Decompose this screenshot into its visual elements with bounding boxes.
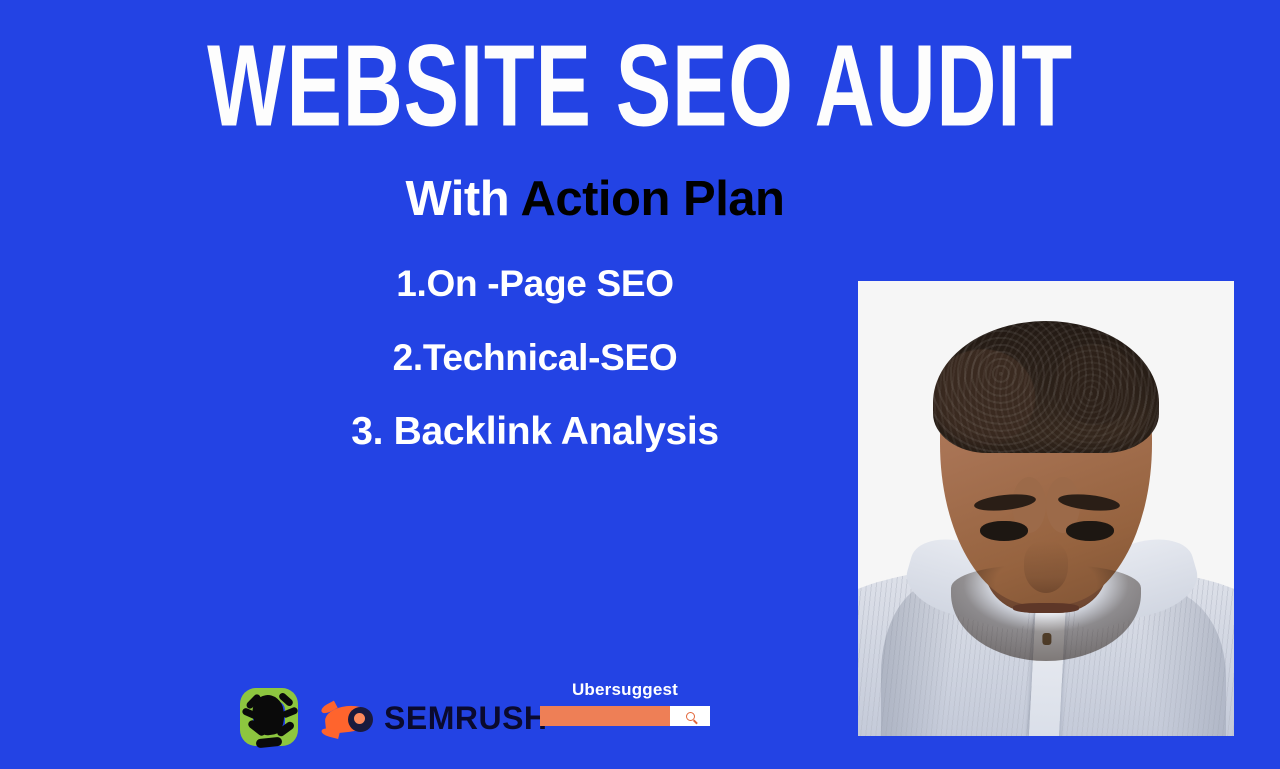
ubersuggest-wordmark: Ubersuggest xyxy=(540,680,710,700)
eye-left xyxy=(980,521,1028,541)
mouth xyxy=(1013,603,1079,613)
search-icon xyxy=(686,712,695,721)
subtitle-emphasis: Action Plan xyxy=(520,172,784,226)
frog-foot-icon xyxy=(256,737,283,749)
service-list: 1.On -Page SEO 2.Technical-SEO 3. Backli… xyxy=(300,262,770,454)
hair xyxy=(933,321,1159,453)
eye-right xyxy=(1066,521,1114,541)
search-button xyxy=(670,706,710,726)
page-title: WEBSITE SEO AUDIT xyxy=(128,26,1152,147)
list-item: 3. Backlink Analysis xyxy=(300,410,770,454)
ubersuggest-logo: Ubersuggest xyxy=(540,680,710,726)
portrait-photo xyxy=(858,281,1234,736)
comet-ball-icon xyxy=(348,707,373,732)
hair-texture xyxy=(933,321,1159,453)
subtitle: With Action Plan xyxy=(0,168,1280,230)
screaming-frog-logo xyxy=(236,684,304,752)
list-item: 2.Technical-SEO xyxy=(300,336,770,380)
search-bar-field xyxy=(540,706,670,726)
nose xyxy=(1024,541,1068,593)
list-item: 1.On -Page SEO xyxy=(300,262,770,306)
portrait-backdrop xyxy=(858,281,1234,736)
semrush-wordmark: SEMRUSH xyxy=(384,702,548,734)
tool-logo-strip: SEMRUSH Ubersuggest PNGL xyxy=(0,672,1280,769)
seo-audit-banner: WEBSITE SEO AUDIT With Action Plan 1.On … xyxy=(0,0,1280,769)
subtitle-lead: With xyxy=(405,172,520,226)
ubersuggest-search-bar xyxy=(540,706,710,726)
semrush-comet-icon xyxy=(325,702,375,735)
semrush-logo: SEMRUSH xyxy=(325,696,510,740)
